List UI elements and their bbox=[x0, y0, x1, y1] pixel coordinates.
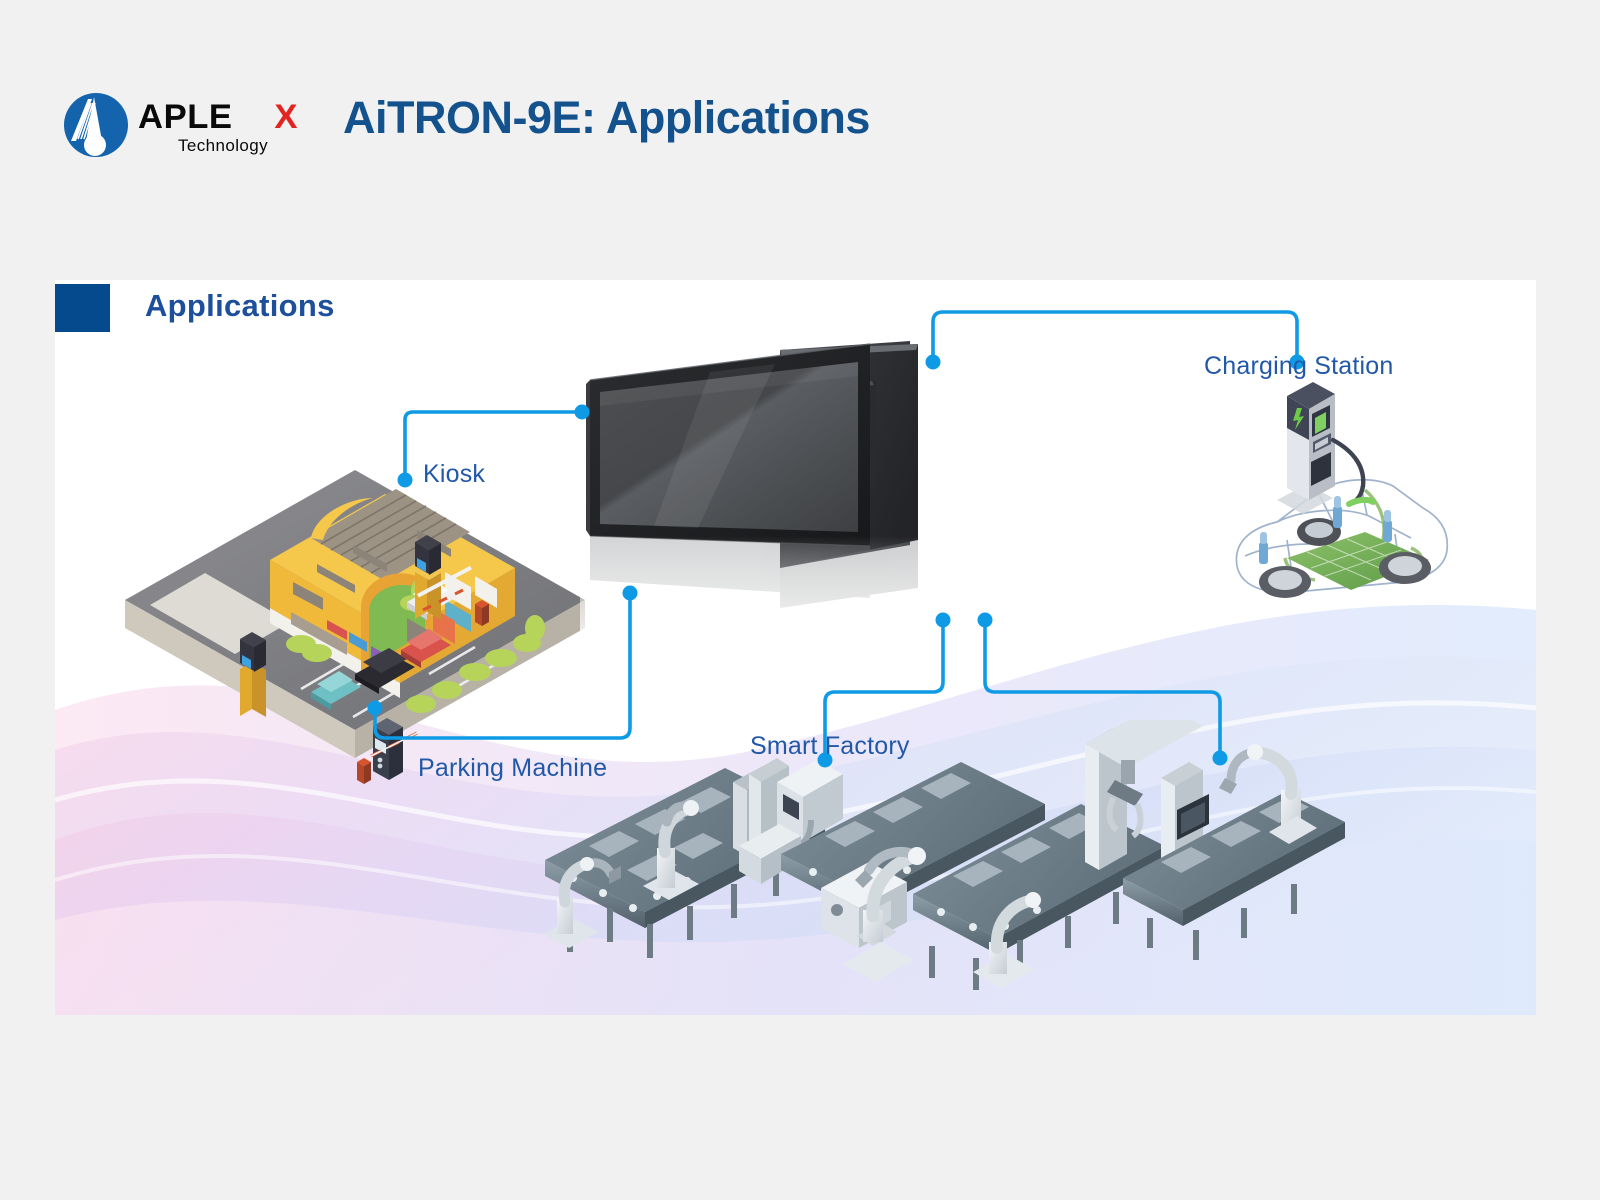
connector-dot-factory-target bbox=[936, 613, 951, 628]
connector-dot-charging-target bbox=[926, 355, 941, 370]
aplex-logo-mark-icon bbox=[62, 89, 130, 161]
page-header: APLE X Technology AiTRON-9E: Application… bbox=[0, 0, 1600, 240]
connector-dot-parking-label bbox=[368, 701, 383, 716]
callout-label-kiosk: Kiosk bbox=[423, 460, 485, 489]
aplex-logo-wordmark: APLE X Technology bbox=[138, 89, 328, 161]
connector-dot-kiosk-target bbox=[575, 405, 590, 420]
callout-label-smart-factory: Smart Factory bbox=[750, 732, 910, 761]
connector-dot-kiosk-label bbox=[398, 473, 413, 488]
callout-label-parking-machine: Parking Machine bbox=[418, 754, 607, 783]
connector-dot-factory-right bbox=[1213, 751, 1228, 766]
callout-connectors bbox=[55, 280, 1536, 1015]
svg-text:APLE: APLE bbox=[138, 98, 233, 136]
svg-text:X: X bbox=[274, 98, 297, 136]
aplex-brand-text-icon: APLE X bbox=[138, 98, 328, 136]
connector-dot-parking-target bbox=[623, 586, 638, 601]
svg-text:Technology: Technology bbox=[178, 136, 268, 155]
aplex-logo: APLE X Technology bbox=[62, 84, 298, 166]
connector-parking-machine bbox=[375, 593, 630, 738]
callout-label-charging-station: Charging Station bbox=[1204, 352, 1393, 381]
aplex-tagline-icon: Technology bbox=[138, 134, 328, 156]
connector-smart-factory-right bbox=[985, 620, 1220, 758]
connector-dot-factory-target-2 bbox=[978, 613, 993, 628]
page-title: AiTRON-9E: Applications bbox=[343, 92, 870, 144]
applications-panel: Applications bbox=[55, 280, 1536, 1015]
